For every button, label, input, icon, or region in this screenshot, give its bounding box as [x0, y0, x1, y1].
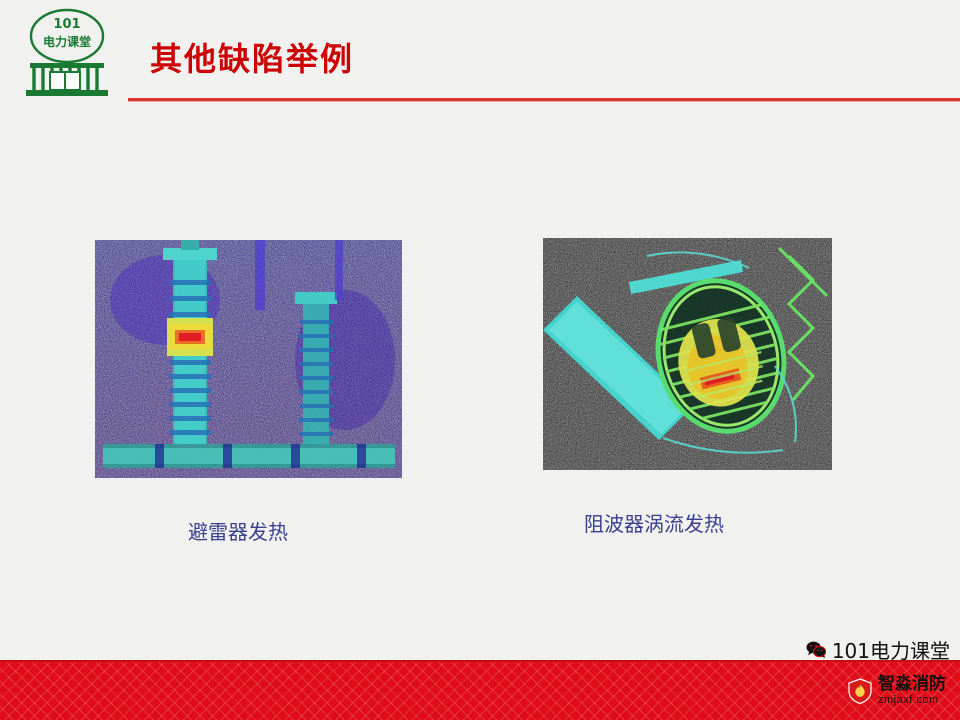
slide: 101 电力课堂 其他缺陷举例 — [0, 0, 960, 720]
wechat-icon — [806, 641, 826, 658]
brand-name: 智淼消防 — [878, 676, 946, 693]
logo: 101 电力课堂 — [14, 6, 120, 98]
figure-wave-trap — [543, 238, 832, 470]
slide-header: 101 电力课堂 其他缺陷举例 — [0, 0, 960, 105]
figure-caption-wave-trap: 阻波器涡流发热 — [584, 508, 724, 537]
brand-url: zmjaxf.com — [878, 695, 946, 706]
figure-caption-arrester: 避雷器发热 — [188, 516, 288, 545]
title-divider-shadow — [128, 101, 960, 102]
svg-text:电力课堂: 电力课堂 — [43, 34, 91, 49]
figure-lightning-arrester — [95, 240, 402, 478]
slide-footer — [0, 662, 960, 720]
page-title: 其他缺陷举例 — [150, 34, 354, 80]
flame-shield-icon — [847, 678, 873, 704]
svg-text:101: 101 — [53, 17, 80, 32]
thermal-image-wave-trap — [543, 238, 832, 470]
thermal-image-arrester — [95, 240, 402, 478]
brand-badge: 智淼消防 zmjaxf.com — [847, 676, 946, 706]
